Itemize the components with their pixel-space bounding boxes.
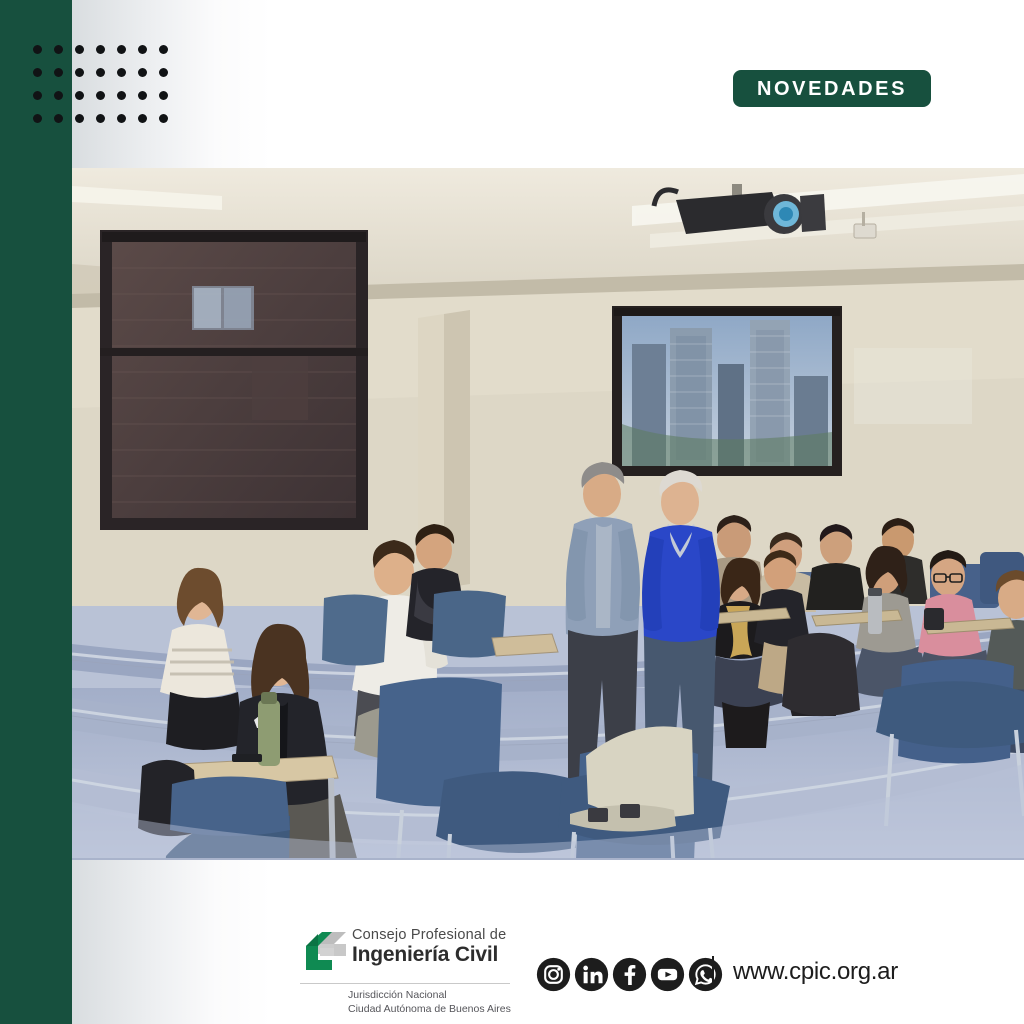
footer: Consejo Profesional de Ingeniería Civil … [0, 860, 1024, 1024]
facebook-icon[interactable] [612, 957, 647, 992]
thermos [868, 592, 882, 634]
dot [159, 114, 168, 123]
classroom-photo [72, 168, 1024, 860]
dot [54, 91, 63, 100]
left-window [100, 230, 368, 530]
dot-grid-decoration [33, 45, 180, 137]
dot [96, 91, 105, 100]
dot [117, 45, 126, 54]
whatsapp-icon[interactable] [688, 957, 723, 992]
cpic-logo-mark [300, 930, 348, 978]
dot [33, 68, 42, 77]
dot [159, 68, 168, 77]
social-links [536, 955, 723, 993]
dot [75, 114, 84, 123]
dot [96, 68, 105, 77]
dot [75, 68, 84, 77]
novedades-badge: NOVEDADES [733, 70, 931, 107]
dot [75, 45, 84, 54]
phone [232, 754, 262, 762]
logo-divider [300, 983, 510, 984]
backpack [782, 633, 860, 716]
cpic-logo: Consejo Profesional de Ingeniería Civil … [300, 928, 515, 1020]
dot [33, 45, 42, 54]
dot [117, 68, 126, 77]
dot [54, 114, 63, 123]
instagram-icon[interactable] [536, 957, 571, 992]
logo-line-1: Consejo Profesional de [352, 928, 517, 943]
logo-subtext: Jurisdicción Nacional Ciudad Autónoma de… [348, 988, 548, 1016]
dot [159, 91, 168, 100]
dot [138, 45, 147, 54]
dot [96, 45, 105, 54]
classroom-photo-illustration [72, 168, 1024, 860]
dot [33, 114, 42, 123]
dot [75, 91, 84, 100]
dot [96, 114, 105, 123]
mug [924, 608, 944, 630]
dot [138, 114, 147, 123]
youtube-icon[interactable] [650, 957, 685, 992]
logo-sub-line-1: Jurisdicción Nacional [348, 988, 548, 1002]
novedades-badge-label: NOVEDADES [757, 79, 907, 99]
footer-divider [712, 956, 714, 986]
dot [138, 91, 147, 100]
dot [54, 68, 63, 77]
dot [159, 45, 168, 54]
logo-sub-line-2: Ciudad Autónoma de Buenos Aires [348, 1002, 548, 1016]
dot [33, 91, 42, 100]
website-url[interactable]: www.cpic.org.ar [733, 957, 898, 987]
logo-line-2: Ingeniería Civil [352, 944, 517, 967]
poster-canvas: NOVEDADES [0, 0, 1024, 1024]
dot [117, 91, 126, 100]
dot [117, 114, 126, 123]
linkedin-icon[interactable] [574, 957, 609, 992]
dot [54, 45, 63, 54]
cpic-logo-text: Consejo Profesional de Ingeniería Civil [352, 928, 517, 967]
right-window [612, 306, 842, 476]
dot [138, 68, 147, 77]
